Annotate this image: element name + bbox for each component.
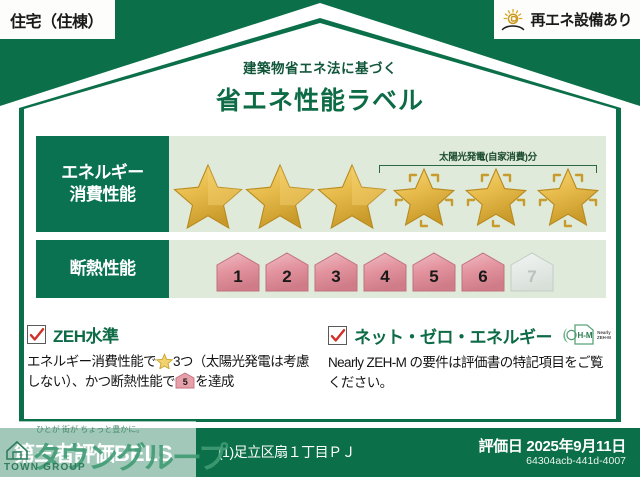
nze-criterion-body: Nearly ZEH-M の要件は評価書の特記項目をご覧ください。 [328,353,615,394]
insulation-badge-value: 1 [233,267,242,293]
insulation-badge: 3 [313,251,359,293]
insulation-badge: 1 [215,251,261,293]
third-party-evaluation-label: 第三者評価BELS [14,438,173,468]
energy-performance-key-line1: エネルギー [61,162,144,184]
nze-criterion-header: ネット・ゼロ・エネルギー H-M Nearly ZEH-M [328,322,615,348]
label-subtitle: 建築物省エネ法に基づく [0,57,640,77]
zeh-body-part1: エネルギー消費性能で [27,354,156,369]
check-icon [27,325,46,344]
star-icon-inline [156,353,173,369]
insulation-badge-value: 2 [282,267,291,293]
energy-performance-row: エネルギー 消費性能 太陽光発電(自家消費)分 [36,136,606,232]
property-address: (1)足立区扇１丁目ＰＪ [218,442,355,462]
zeh-body-part3: を達成 [195,374,234,389]
insulation-badge: 5 [411,251,457,293]
criteria-block: ZEH水準 エネルギー消費性能で3つ（太陽光発電は考慮しない）、かつ断熱性能で5… [27,322,617,394]
metrics-block: エネルギー 消費性能 太陽光発電(自家消費)分 [36,136,606,298]
insulation-performance-key: 断熱性能 [36,240,169,298]
star-icon [172,159,244,229]
evaluation-id: 64304acb-441d-4007 [526,455,626,467]
insulation-performance-row: 断熱性能 [36,240,606,298]
insulation-performance-key-label: 断熱性能 [70,258,136,280]
third-party-evaluation-jp: 第三者評価 [14,443,114,466]
energy-performance-key: エネルギー 消費性能 [36,136,169,232]
nearly-zeh-m-logo: H-M Nearly ZEH-M [559,322,615,348]
solar-bracket-line [379,165,597,173]
evaluation-date: 評価日 2025年9月11日 [478,435,626,456]
svg-text:5: 5 [183,377,188,387]
housing-type-label: 住宅（住棟） [10,8,103,32]
insulation-badge-value: 5 [429,267,438,293]
insulation-badge-value: 3 [331,267,340,293]
renewable-equipment-tag: 再エネ設備あり [494,0,640,39]
label-footer: 第三者評価BELS (1)足立区扇１丁目ＰＪ 評価日 2025年9月11日 64… [0,428,640,477]
svg-text:H-M: H-M [577,331,592,340]
zeh-criterion-header: ZEH水準 [27,322,310,347]
insulation-badge: 2 [264,251,310,293]
star-icon [316,159,388,229]
insulation-badge-value: 4 [380,267,389,293]
solar-generation-label: 太陽光発電(自家消費)分 [379,149,597,163]
star-icon [244,159,316,229]
bels-mark: BELS [114,441,173,466]
energy-performance-label: 住宅（住棟） 再エネ設備あり 建築 [0,0,640,477]
insulation-badge-inactive: 7 [509,251,555,293]
nze-criterion-title: ネット・ゼロ・エネルギー [354,323,552,348]
energy-performance-key-line2: 消費性能 [70,184,136,206]
insulation-badge: 6 [460,251,506,293]
insulation-badge-scale: 1 2 3 [215,251,555,293]
zeh-criterion: ZEH水準 エネルギー消費性能で3つ（太陽光発電は考慮しない）、かつ断熱性能で5… [27,322,322,394]
check-icon [328,326,347,345]
insulation-badge: 4 [362,251,408,293]
housing-type-tag: 住宅（住棟） [0,0,115,39]
renewable-equipment-label: 再エネ設備あり [530,9,632,30]
insulation-performance-value: 1 2 3 [169,240,606,298]
insulation-badge-value: 7 [527,267,536,293]
label-title-block: 建築物省エネ法に基づく 省エネ性能ラベル [0,57,640,117]
nze-criterion: ネット・ゼロ・エネルギー H-M Nearly ZEH-M Nearly ZEH… [322,322,627,394]
energy-performance-value: 太陽光発電(自家消費)分 [169,136,606,232]
solar-generation-bracket: 太陽光発電(自家消費)分 [379,149,597,173]
zeh-criterion-title: ZEH水準 [53,322,119,347]
insulation-badge-inline: 5 [175,372,195,389]
label-title: 省エネ性能ラベル [0,81,640,117]
svg-text:ZEH-M: ZEH-M [597,335,611,340]
solar-sun-icon [500,8,526,32]
insulation-badge-value: 6 [478,267,487,293]
zeh-criterion-body: エネルギー消費性能で3つ（太陽光発電は考慮しない）、かつ断熱性能で5を達成 [27,352,310,393]
